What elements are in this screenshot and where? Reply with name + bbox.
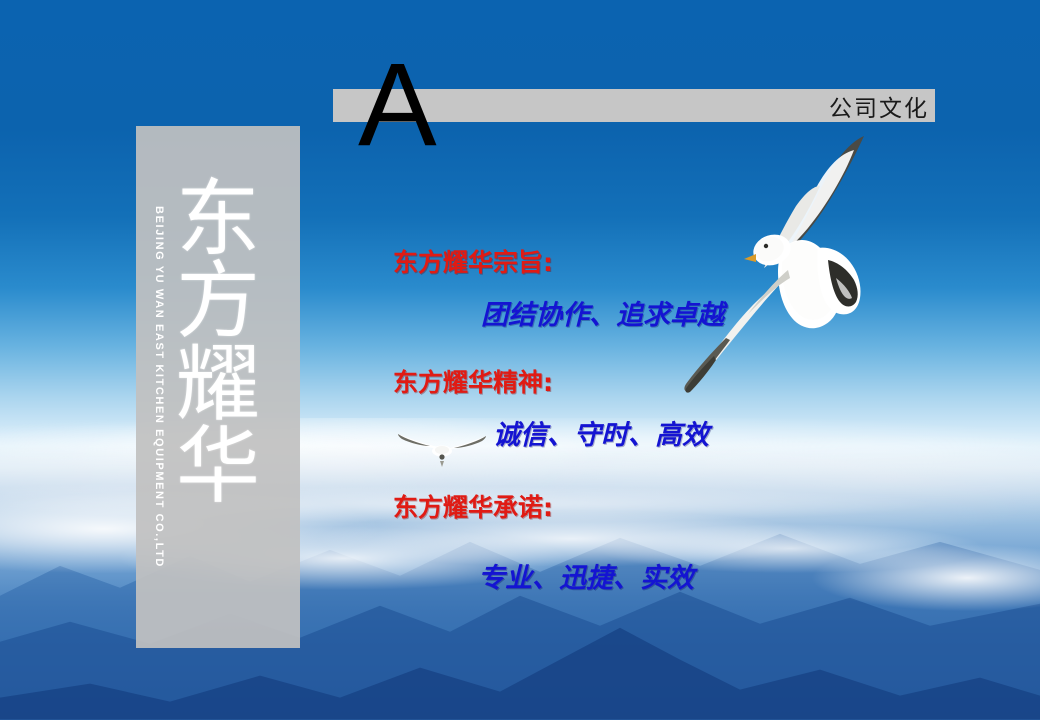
culture-value: 专业、迅捷、实效 bbox=[478, 556, 694, 595]
culture-block-promise: 东方耀华承诺: 专业、迅捷、实效 bbox=[393, 488, 694, 595]
logo-char-3: 华 bbox=[176, 425, 260, 507]
logo-char-0: 东 bbox=[176, 178, 260, 260]
culture-heading: 东方耀华精神: bbox=[393, 363, 709, 399]
culture-heading: 东方耀华承诺: bbox=[393, 488, 694, 524]
culture-value: 团结协作、追求卓越 bbox=[481, 293, 724, 332]
logo-char-1: 方 bbox=[176, 260, 260, 342]
company-name-chinese: 东 方 耀 华 bbox=[136, 126, 300, 648]
culture-block-purpose: 东方耀华宗旨: 团结协作、追求卓越 bbox=[393, 243, 724, 332]
company-logo-panel: BEIJING YU WAN EAST KITCHEN EQUIPMENT CO… bbox=[136, 126, 300, 648]
slide-letter-mark: A bbox=[358, 46, 437, 164]
logo-char-2: 耀 bbox=[176, 343, 260, 425]
presentation-slide: 公司文化 A BEIJING YU WAN EAST KITCHEN EQUIP… bbox=[0, 0, 1040, 720]
page-title: 公司文化 bbox=[829, 89, 929, 123]
culture-value: 诚信、守时、高效 bbox=[493, 413, 709, 452]
culture-heading: 东方耀华宗旨: bbox=[393, 243, 724, 279]
culture-block-spirit: 东方耀华精神: 诚信、守时、高效 bbox=[393, 363, 709, 452]
